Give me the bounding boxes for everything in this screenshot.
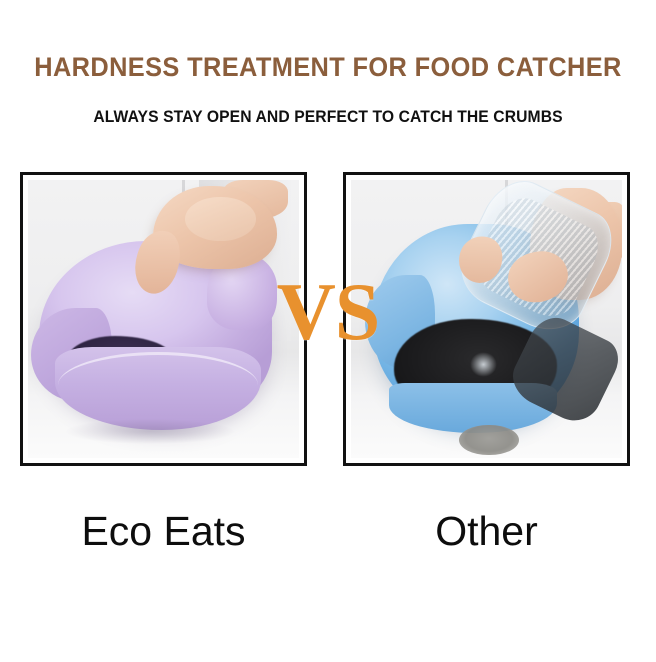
panel-label-left: Eco Eats [20,508,307,555]
vs-badge: VS [0,271,656,353]
panel-label-right: Other [343,508,630,555]
lavender-catcher-shadow [66,419,234,444]
product-comparison-infographic: HARDNESS TREATMENT FOR FOOD CATCHER ALWA… [0,0,656,662]
page-title: HARDNESS TREATMENT FOR FOOD CATCHER [20,52,637,83]
spilled-crumb-blob [459,425,519,456]
hand-knuckles [185,197,255,241]
page-subtitle: ALWAYS STAY OPEN AND PERFECT TO CATCH TH… [16,108,639,127]
